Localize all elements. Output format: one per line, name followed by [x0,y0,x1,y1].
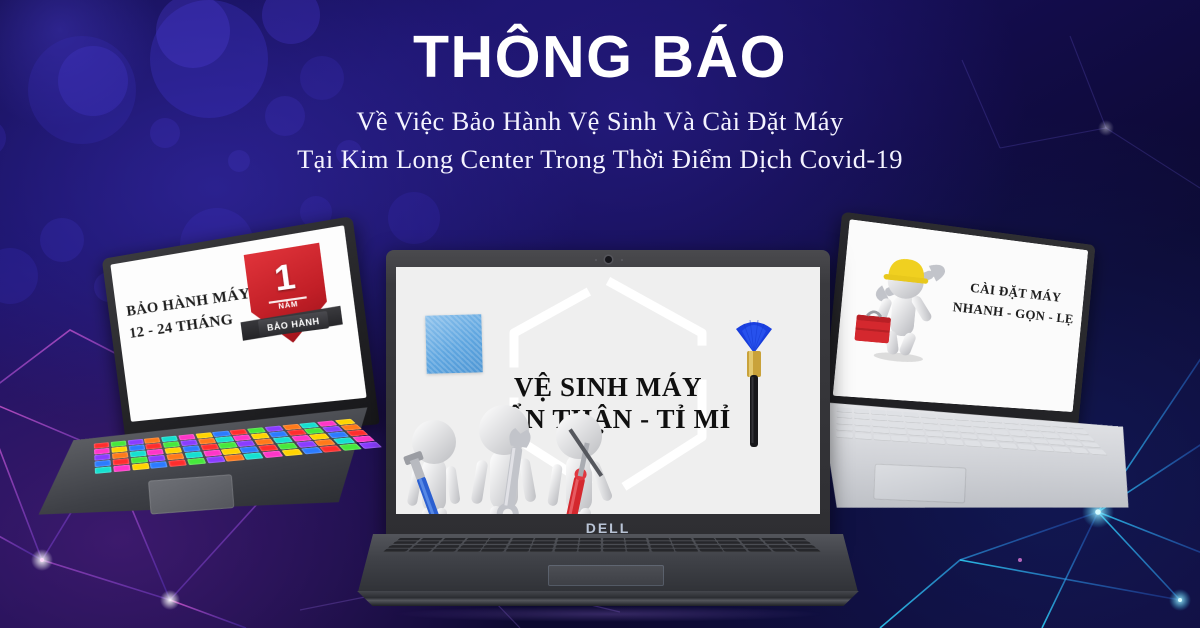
promo-banner: THÔNG BÁO Về Việc Bảo Hành Vệ Sinh Và Cà… [0,0,1200,628]
warranty-shield-badge: 1 NĂM BẢO HÀNH [234,241,345,367]
laptop-center-keyboard [383,538,821,552]
laptop-center-lid: VỆ SINH MÁY CẨN THẬN - TỈ MỈ [386,250,830,540]
laptop-center-base [352,534,864,620]
microphone-hole [621,259,623,261]
laptop-left-screen: BẢO HÀNH MÁY 12 - 24 THÁNG 1 NĂM BẢO HÀN… [110,225,366,422]
headings-block: THÔNG BÁO Về Việc Bảo Hành Vệ Sinh Và Cà… [0,28,1200,177]
figure-screwdriver [547,413,613,514]
warranty-text: BẢO HÀNH MÁY 12 - 24 THÁNG [125,282,255,346]
bokeh-circle [40,218,84,262]
setup-text: CÀI ĐẶT MÁY NHANH - GỌN - LẸ [952,276,1077,330]
laptop-left-warranty: BẢO HÀNH MÁY 12 - 24 THÁNG 1 NĂM BẢO HÀN… [7,227,386,589]
technician-figures [400,380,640,514]
shield-ribbon-label: BẢO HÀNH [266,316,320,333]
laptop-center-front-edge [352,591,864,606]
laptop-left-trackpad [148,474,234,514]
microfiber-cloth-icon [425,314,482,373]
figure-wrench [471,405,537,514]
laptop-center-cleaning: VỆ SINH MÁY CẨN THẬN - TỈ MỈ [352,250,864,620]
figure-hammer [403,420,461,514]
bokeh-circle [388,192,440,244]
worker-figure-icon [848,238,955,365]
microphone-hole [595,259,597,261]
laptop-right-setup: CÀI ĐẶT MÁY NHANH - GỌN - LẸ msi [827,222,1197,583]
laptop-right-trackpad [873,464,966,504]
laptop-left-base [30,402,383,565]
laptop-center-screen: VỆ SINH MÁY CẨN THẬN - TỈ MỈ [396,267,820,514]
subtitle-line-1: Về Việc Bảo Hành Vệ Sinh Và Cài Đặt Máy [0,103,1200,139]
laptop-right-screen: CÀI ĐẶT MÁY NHANH - GỌN - LẸ [833,219,1088,412]
page-title: THÔNG BÁO [0,28,1200,87]
laptop-center-shadow [396,606,820,622]
subtitle-line-2: Tại Kim Long Center Trong Thời Điểm Dịch… [0,141,1200,177]
laptop-center-trackpad [548,565,664,586]
webcam-icon [605,256,612,263]
